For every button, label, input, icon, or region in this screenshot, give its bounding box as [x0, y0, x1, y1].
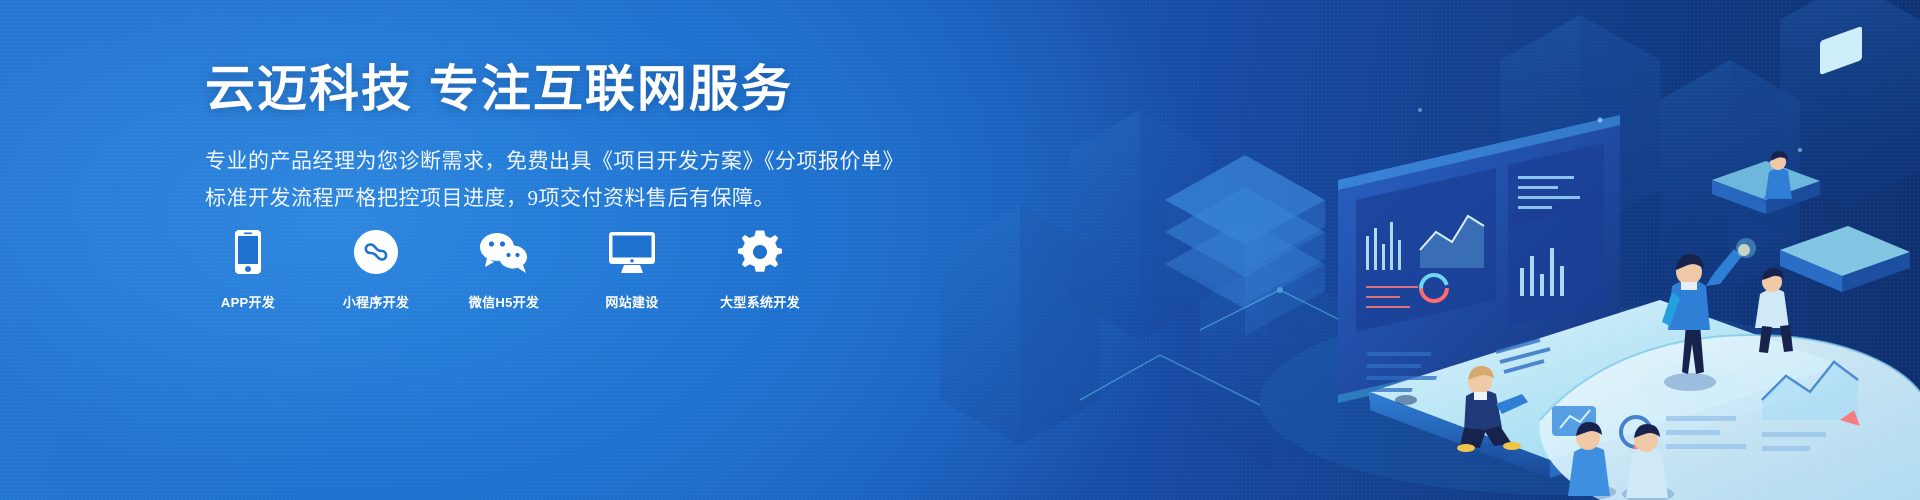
service-list: APP开发 小程序开发	[205, 228, 803, 311]
service-item-mini-program[interactable]: 小程序开发	[333, 228, 419, 311]
character-top-right	[1762, 151, 1794, 206]
mobile-phone-icon	[235, 228, 261, 274]
service-item-website[interactable]: 网站建设	[589, 228, 675, 311]
subtitle-line-1: 专业的产品经理为您诊断需求，免费出具《项目开发方案》《分项报价单》	[205, 143, 905, 180]
service-item-system[interactable]: 大型系统开发	[717, 228, 803, 311]
character-pair	[1564, 422, 1674, 500]
hero-subtitle: 专业的产品经理为您诊断需求，免费出具《项目开发方案》《分项报价单》 标准开发流程…	[205, 143, 905, 217]
hero-banner: 云迈科技 专注互联网服务 专业的产品经理为您诊断需求，免费出具《项目开发方案》《…	[0, 0, 1920, 500]
service-label: 小程序开发	[343, 292, 410, 311]
service-label: 网站建设	[605, 292, 658, 311]
service-label: 微信H5开发	[469, 292, 539, 311]
character-platform	[1752, 268, 1793, 353]
gear-icon	[738, 228, 782, 274]
monitor-icon	[609, 228, 655, 274]
isometric-illustration	[900, 0, 1920, 500]
service-item-wechat-h5[interactable]: 微信H5开发	[461, 228, 547, 311]
hero-copy: 云迈科技 专注互联网服务 专业的产品经理为您诊断需求，免费出具《项目开发方案》《…	[205, 62, 905, 217]
page-title: 云迈科技 专注互联网服务	[205, 62, 905, 117]
character-sitting	[1455, 340, 1550, 461]
service-label: 大型系统开发	[720, 292, 800, 311]
service-item-app[interactable]: APP开发	[205, 228, 291, 311]
service-label: APP开发	[221, 292, 275, 311]
character-standing	[1662, 238, 1756, 391]
wechat-icon	[479, 228, 529, 274]
mini-program-icon	[354, 228, 398, 274]
subtitle-line-2: 标准开发流程严格把控项目进度，9项交付资料售后有保障。	[205, 180, 905, 217]
